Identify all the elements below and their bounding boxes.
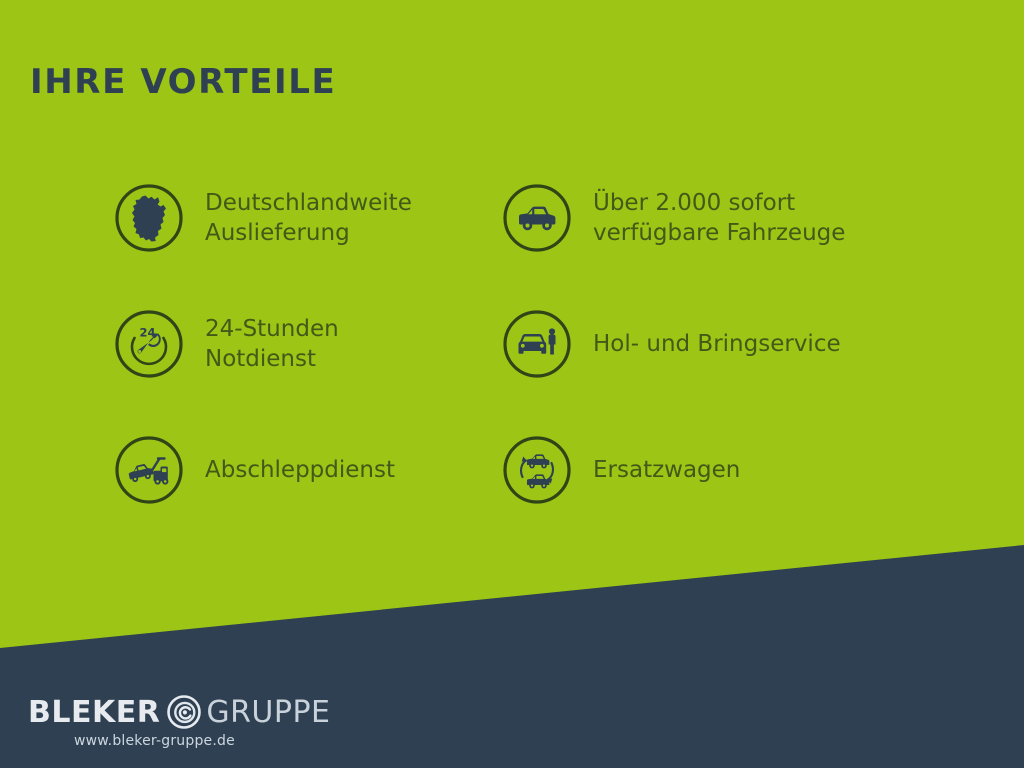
- feature-label: Abschleppdienst: [205, 455, 395, 485]
- feature-label: Hol- und Bringservice: [593, 329, 841, 359]
- clock-wrench-24-icon: 24: [113, 308, 185, 380]
- feature-item-hol-und-bringservice: Hol- und Bringservice: [400, 281, 920, 407]
- feature-row: Deutschlandweite Auslieferung Übe: [0, 155, 1024, 281]
- slide-root: IHRE VORTEILE Deutschlandweite Ausliefer…: [0, 0, 1024, 768]
- spiral-circle-logo-icon: [163, 691, 205, 733]
- car-side-icon: [501, 182, 573, 254]
- logo-url[interactable]: www.bleker-gruppe.de: [74, 733, 235, 749]
- footer-logo[interactable]: BLEKER GRUPPE www.bleker-gruppe.de: [28, 694, 331, 749]
- feature-label: Ersatzwagen: [593, 455, 740, 485]
- feature-row: Abschleppdienst: [0, 407, 1024, 533]
- logo-wordmark: BLEKER GRUPPE: [28, 694, 331, 730]
- feature-row: 24 24-Stunden Notdienst: [0, 281, 1024, 407]
- logo-bleker-text: BLEKER: [28, 695, 160, 730]
- feature-label: Deutschlandweite Auslieferung: [205, 188, 412, 249]
- feature-item-abschleppdienst: Abschleppdienst: [0, 407, 400, 533]
- feature-item-24-stunden-notdienst: 24 24-Stunden Notdienst: [0, 281, 400, 407]
- feature-item-deutschlandweite-auslieferung: Deutschlandweite Auslieferung: [0, 155, 400, 281]
- germany-map-icon: [113, 182, 185, 254]
- feature-label: 24-Stunden Notdienst: [205, 314, 339, 375]
- feature-label: Über 2.000 sofort verfügbare Fahrzeuge: [593, 188, 845, 249]
- page-title: IHRE VORTEILE: [30, 62, 336, 102]
- car-exchange-icon: [501, 434, 573, 506]
- tow-truck-icon: [113, 434, 185, 506]
- logo-gruppe-text: GRUPPE: [206, 695, 330, 730]
- features-grid: Deutschlandweite Auslieferung Übe: [0, 155, 1024, 533]
- car-person-icon: [501, 308, 573, 380]
- feature-item-verfuegbare-fahrzeuge: Über 2.000 sofort verfügbare Fahrzeuge: [400, 155, 920, 281]
- feature-item-ersatzwagen: Ersatzwagen: [400, 407, 920, 533]
